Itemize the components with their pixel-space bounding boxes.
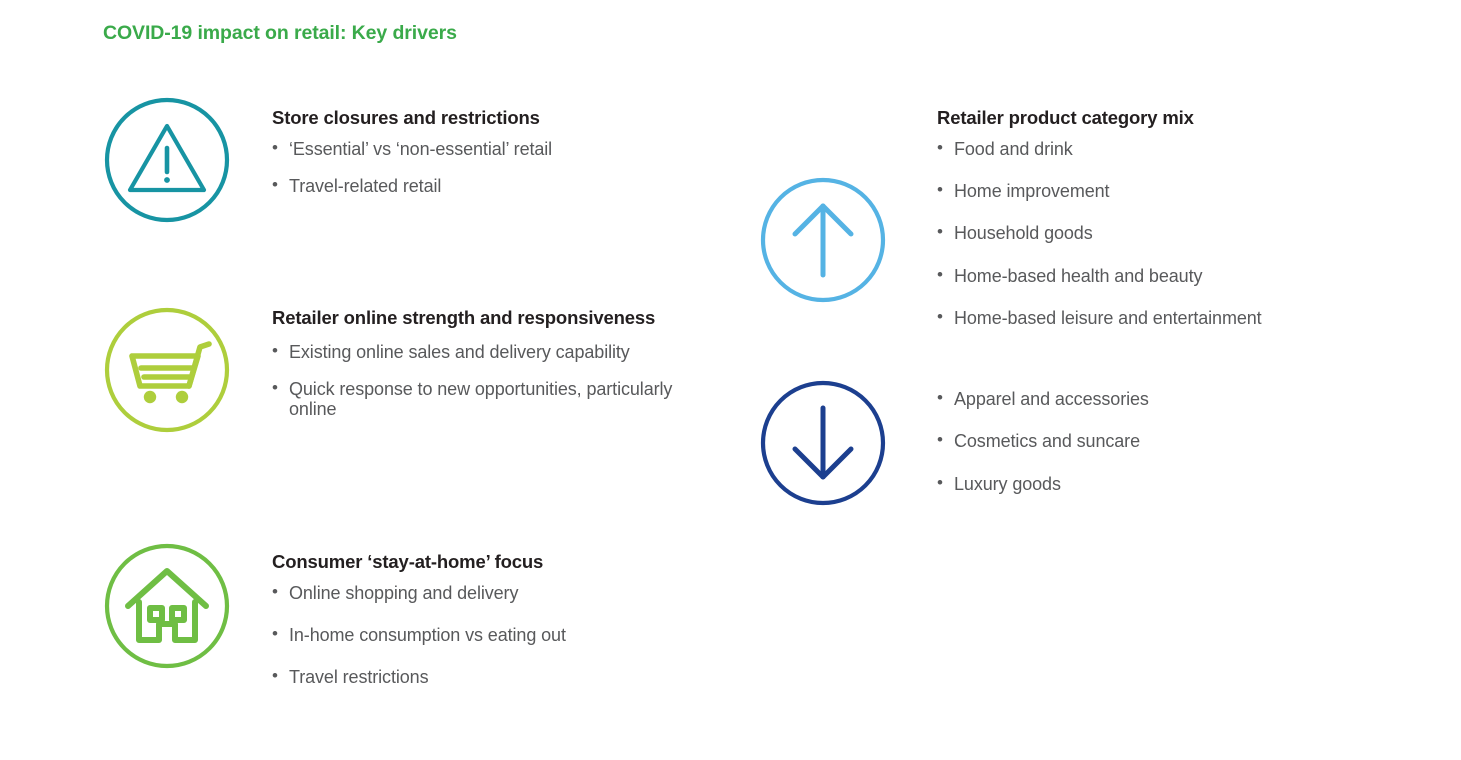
- block-body: Apparel and accessories Cosmetics and su…: [887, 379, 1449, 516]
- block-body: Retailer product category mix Food and d…: [887, 96, 1449, 350]
- arrow-down-icon: [759, 379, 887, 507]
- bullet-list: ‘Essential’ vs ‘non-essential’ retail Tr…: [272, 139, 723, 197]
- driver-block-category-growth: Retailer product category mix Food and d…: [759, 96, 1449, 350]
- bullet-list: Online shopping and delivery In-home con…: [272, 583, 723, 688]
- list-item: Existing online sales and delivery capab…: [272, 342, 723, 362]
- bullet-list: Food and drink Home improvement Househol…: [937, 139, 1449, 329]
- list-item: Online shopping and delivery: [272, 583, 723, 603]
- list-item: Apparel and accessories: [937, 389, 1449, 409]
- driver-block-store-closures: Store closures and restrictions ‘Essenti…: [103, 96, 723, 224]
- block-body: Retailer online strength and responsiven…: [231, 306, 723, 420]
- arrow-up-icon: [759, 176, 887, 304]
- bullet-list: Apparel and accessories Cosmetics and su…: [937, 389, 1449, 494]
- block-heading: Retailer online strength and responsiven…: [272, 306, 723, 330]
- warning-triangle-icon: [103, 96, 231, 224]
- list-item: ‘Essential’ vs ‘non-essential’ retail: [272, 139, 723, 159]
- slide-root: COVID-19 impact on retail: Key drivers S…: [0, 0, 1461, 760]
- list-item: Luxury goods: [937, 474, 1449, 494]
- shopping-cart-icon: [103, 306, 231, 434]
- list-item: Travel-related retail: [272, 176, 723, 196]
- list-item: Home-based leisure and entertainment: [937, 308, 1449, 328]
- list-item: Food and drink: [937, 139, 1449, 159]
- list-item: Travel restrictions: [272, 667, 723, 687]
- list-item: Household goods: [937, 223, 1449, 243]
- right-column: Retailer product category mix Food and d…: [740, 0, 1461, 760]
- list-item: Home-based health and beauty: [937, 266, 1449, 286]
- list-item: Home improvement: [937, 181, 1449, 201]
- house-icon: [103, 542, 231, 670]
- driver-block-stay-at-home: Consumer ‘stay-at-home’ focus Online sho…: [103, 542, 723, 710]
- list-item: In-home consumption vs eating out: [272, 625, 723, 645]
- driver-block-online-strength: Retailer online strength and responsiven…: [103, 306, 723, 434]
- block-heading: Retailer product category mix: [937, 106, 1449, 130]
- bullet-list: Existing online sales and delivery capab…: [272, 342, 723, 420]
- left-column: Store closures and restrictions ‘Essenti…: [0, 0, 740, 760]
- block-body: Consumer ‘stay-at-home’ focus Online sho…: [231, 542, 723, 710]
- list-item: Cosmetics and suncare: [937, 431, 1449, 451]
- block-body: Store closures and restrictions ‘Essenti…: [231, 96, 723, 196]
- block-heading: Store closures and restrictions: [272, 106, 723, 130]
- list-item: Quick response to new opportunities, par…: [272, 379, 723, 420]
- block-heading: Consumer ‘stay-at-home’ focus: [272, 550, 723, 574]
- driver-block-category-decline: Apparel and accessories Cosmetics and su…: [759, 379, 1449, 516]
